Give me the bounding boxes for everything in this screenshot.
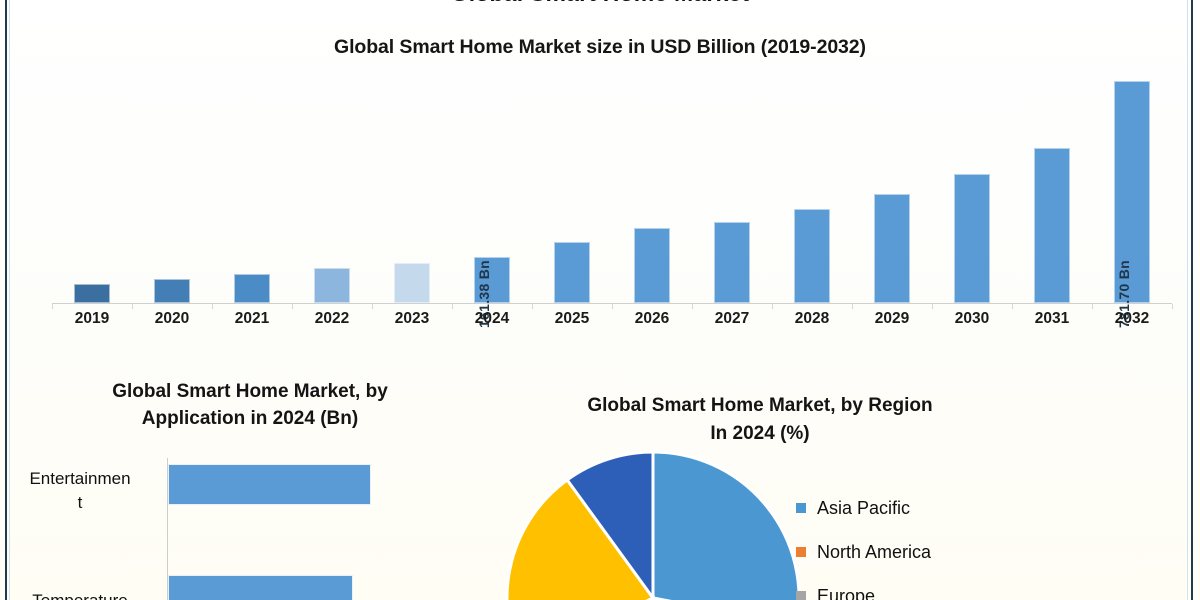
x-axis-tick (772, 304, 773, 309)
master-title: Global Smart Home Market (0, 0, 1200, 6)
x-axis-tick (1012, 304, 1013, 309)
bar-2032: 781.70 Bn (1114, 81, 1150, 303)
application-bar-chart: EntertainmentTemperature (0, 450, 480, 600)
x-axis-label-2022: 2022 (292, 310, 372, 328)
application-label-temperature: Temperature (0, 589, 160, 600)
x-axis-label-2026: 2026 (612, 310, 692, 328)
x-axis-label-2029: 2029 (852, 310, 932, 328)
bar-2030 (954, 174, 990, 303)
legend-swatch-icon (796, 503, 806, 513)
bar-2025 (554, 242, 590, 303)
x-axis-label-2030: 2030 (932, 310, 1012, 328)
bar-2022 (314, 268, 350, 303)
bar-2029 (874, 194, 910, 303)
legend-swatch-icon (796, 591, 806, 600)
legend-label: Asia Pacific (817, 498, 910, 519)
region-legend: Asia PacificNorth AmericaEurope (796, 486, 1046, 600)
x-axis-tick (132, 304, 133, 309)
main-chart-title: Global Smart Home Market size in USD Bil… (0, 36, 1200, 62)
x-axis-tick (52, 304, 53, 309)
x-axis-tick (612, 304, 613, 309)
x-axis-label-2032: 2032 (1092, 310, 1172, 328)
x-axis-tick (932, 304, 933, 309)
legend-swatch-icon (796, 547, 806, 557)
bar-2021 (234, 274, 270, 303)
application-chart-title-line1: Global Smart Home Market, by (20, 378, 480, 405)
bar-2026 (634, 228, 670, 303)
x-axis-label-2031: 2031 (1012, 310, 1092, 328)
application-label-entertainment: Entertainment (0, 467, 160, 515)
x-axis-tick (692, 304, 693, 309)
frame-inner-right (1187, 0, 1188, 600)
legend-item-asia-pacific: Asia Pacific (796, 486, 1046, 530)
legend-item-europe: Europe (796, 574, 1046, 600)
bar-2028 (794, 209, 830, 303)
frame-border-right (1191, 0, 1193, 600)
bar-2024: 161.38 Bn (474, 257, 510, 303)
legend-label: Europe (817, 586, 875, 600)
x-axis-label-2020: 2020 (132, 310, 212, 328)
region-chart-title: Global Smart Home Market, by Region In 2… (500, 392, 1020, 448)
region-chart-title-line2: In 2024 (%) (500, 420, 1020, 448)
x-axis-tick (292, 304, 293, 309)
main-bar-chart: 20192020202120222023161.38 Bn20242025202… (40, 60, 1180, 310)
x-axis-label-2023: 2023 (372, 310, 452, 328)
x-axis-label-2028: 2028 (772, 310, 852, 328)
x-axis-label-2027: 2027 (692, 310, 772, 328)
bar-2019 (74, 284, 110, 303)
application-bar-temperature (168, 575, 353, 600)
application-chart-title-line2: Application in 2024 (Bn) (20, 405, 480, 432)
bar-2031 (1034, 148, 1070, 303)
legend-item-north-america: North America (796, 530, 1046, 574)
x-axis-tick (852, 304, 853, 309)
infographic-page: Global Smart Home Market Global Smart Ho… (0, 0, 1200, 600)
bar-2023 (394, 263, 430, 303)
x-axis-label-2024: 2024 (452, 310, 532, 328)
application-bar-entertainment (168, 464, 371, 505)
pie-slice-asia-pacific (653, 452, 799, 600)
x-axis-tick (212, 304, 213, 309)
x-axis-label-2019: 2019 (52, 310, 132, 328)
x-axis-tick (1172, 304, 1173, 309)
x-axis-tick (372, 304, 373, 309)
region-pie-chart (500, 448, 810, 600)
bar-2020 (154, 279, 190, 303)
application-chart-title: Global Smart Home Market, by Application… (20, 378, 480, 432)
x-axis-tick (452, 304, 453, 309)
x-axis-tick (532, 304, 533, 309)
region-chart-title-line1: Global Smart Home Market, by Region (500, 392, 1020, 420)
x-axis-tick (1092, 304, 1093, 309)
legend-label: North America (817, 542, 931, 563)
region-pie-svg (500, 448, 810, 600)
x-axis-label-2025: 2025 (532, 310, 612, 328)
bar-2027 (714, 222, 750, 303)
x-axis-label-2021: 2021 (212, 310, 292, 328)
